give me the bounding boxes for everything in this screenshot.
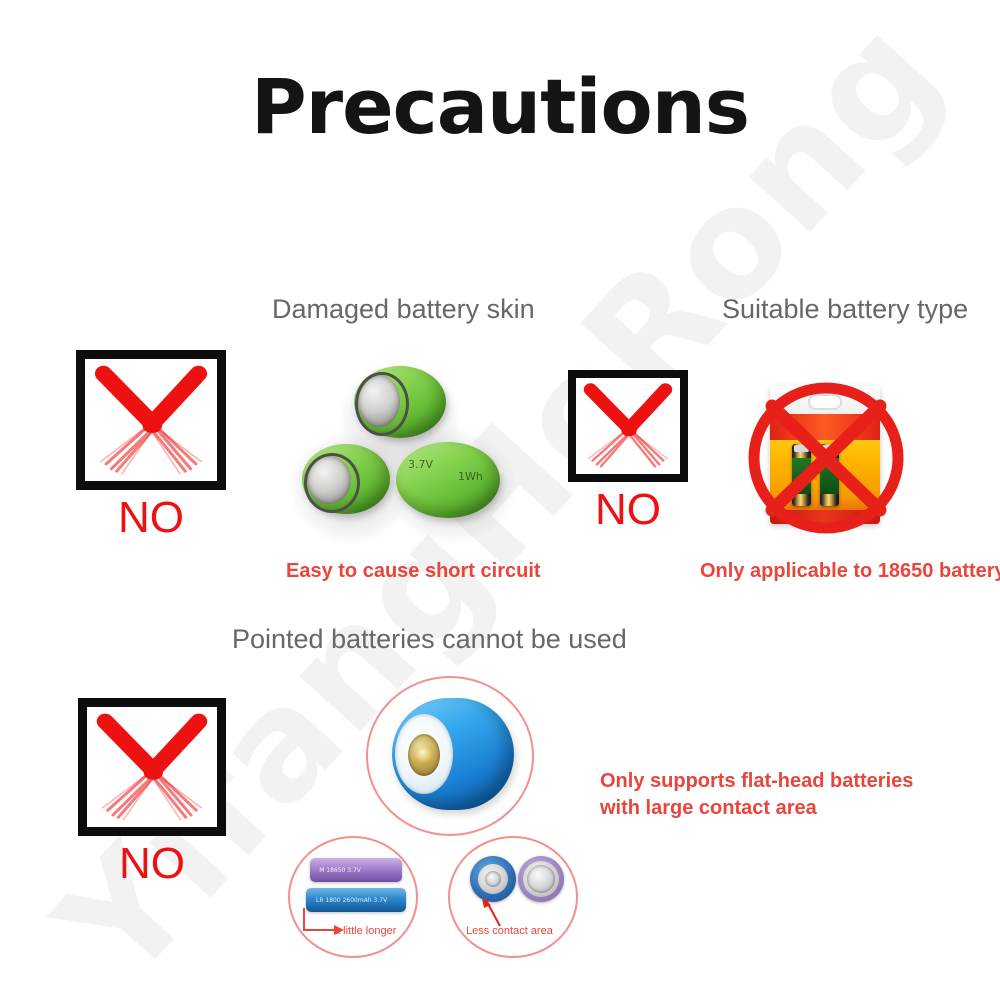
caption-flat-head-line2: with large contact area	[600, 795, 913, 822]
caption-flat-head-line1: Only supports flat-head batteries	[600, 768, 913, 795]
circle-contact-compare	[448, 836, 578, 958]
no-sign-damaged-skin: NO	[76, 350, 226, 540]
page-title: Precautions	[0, 62, 1000, 151]
heading-suitable-battery-type: Suitable battery type	[722, 294, 968, 325]
cell-body	[396, 442, 500, 518]
cell-rim	[355, 372, 409, 436]
cell-energy-marking: 1Wh	[458, 470, 483, 483]
cell-rim	[304, 453, 360, 513]
caption-18650-only: Only applicable to 18650 battery	[700, 560, 1000, 583]
no-label: NO	[568, 488, 688, 532]
red-x-icon	[87, 707, 217, 827]
no-label: NO	[76, 496, 226, 540]
red-x-icon	[576, 378, 680, 474]
purple-battery-label: M 18650 3.7V	[319, 867, 361, 874]
no-sign-pointed: NO	[78, 698, 226, 886]
large-contact-area	[527, 865, 555, 893]
no-label: NO	[78, 842, 226, 886]
heading-pointed-batteries: Pointed batteries cannot be used	[232, 624, 627, 655]
caption-short-circuit: Easy to cause short circuit	[286, 560, 541, 583]
heading-damaged-battery-skin: Damaged battery skin	[272, 294, 535, 325]
no-box	[78, 698, 226, 836]
blue-battery-label: LR 1800 2600mAh 3.7V	[316, 897, 387, 904]
caption-a-little-longer: a little longer	[334, 925, 396, 937]
cell-voltage-marking: 3.7V	[408, 458, 433, 471]
no-box	[568, 370, 688, 482]
purple-battery-side: M 18650 3.7V	[310, 858, 402, 882]
small-contact-area	[485, 871, 501, 887]
caption-flat-head: Only supports flat-head batteries with l…	[600, 768, 913, 822]
no-box	[76, 350, 226, 490]
caption-less-contact-area: Less contact area	[466, 925, 553, 937]
green-damaged-cells-photo: 3.7V 1Wh	[292, 356, 502, 534]
prohibition-sign-icon	[748, 382, 904, 534]
battery-cell: 3.7V 1Wh	[396, 442, 500, 518]
circle-pointed-battery	[366, 676, 534, 836]
red-x-icon	[85, 359, 217, 481]
battery-cell	[354, 366, 446, 438]
purple-battery-top	[518, 856, 564, 902]
no-sign-suitable-type: NO	[568, 370, 688, 532]
precautions-infographic: YifangHeRong Precautions Damaged battery…	[0, 0, 1000, 1000]
battery-cell	[302, 444, 390, 514]
